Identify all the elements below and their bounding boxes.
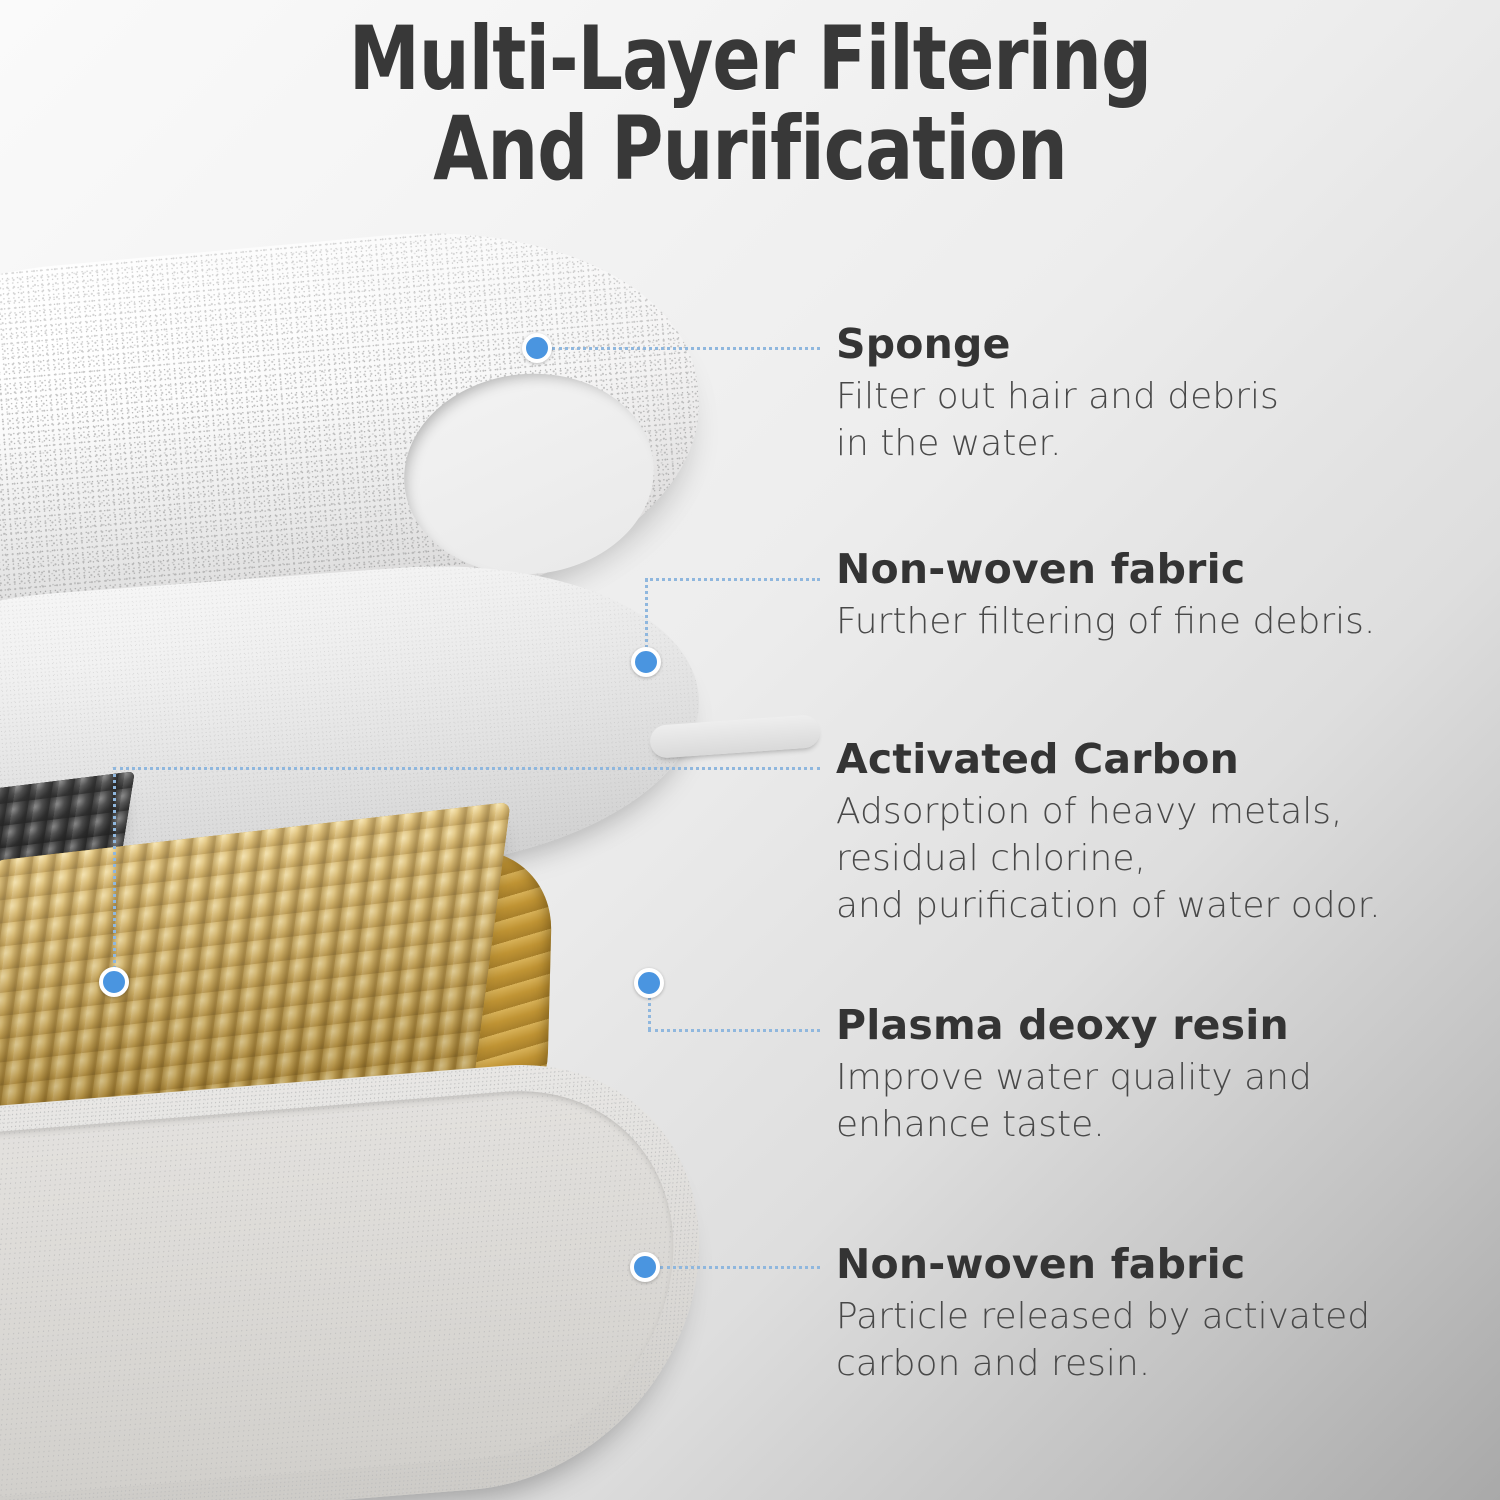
page-title: Multi-Layer Filtering And Purification bbox=[75, 14, 1425, 194]
callout-title-nonwoven-bottom: Non-woven fabric bbox=[836, 1242, 1370, 1288]
callout-desc-activated-carbon: Adsorption of heavy metals, residual chl… bbox=[836, 789, 1381, 929]
non-woven-bottom-layer bbox=[0, 1049, 715, 1500]
leader-line-nonwoven-bottom bbox=[660, 1266, 820, 1269]
callout-desc-line: Further filtering of fine debris. bbox=[836, 599, 1375, 646]
callout-desc-line: Adsorption of heavy metals, bbox=[836, 789, 1381, 836]
callout-block-plasma-deoxy-resin: Plasma deoxy resin Improve water quality… bbox=[836, 1003, 1312, 1149]
callout-block-nonwoven-bottom: Non-woven fabric Particle released by ac… bbox=[836, 1242, 1370, 1388]
callout-title-plasma-deoxy-resin: Plasma deoxy resin bbox=[836, 1003, 1312, 1049]
callout-desc-sponge: Filter out hair and debris in the water. bbox=[836, 374, 1279, 468]
callout-dot-nonwoven-top[interactable] bbox=[631, 647, 661, 677]
callout-desc-nonwoven-bottom: Particle released by activated carbon an… bbox=[836, 1294, 1370, 1388]
callout-title-activated-carbon: Activated Carbon bbox=[836, 737, 1381, 783]
leader-line-sponge bbox=[552, 347, 820, 350]
callout-title-nonwoven-top: Non-woven fabric bbox=[836, 547, 1375, 593]
infographic-canvas: Multi-Layer Filtering And Purification bbox=[0, 0, 1500, 1500]
callout-desc-line: Particle released by activated bbox=[836, 1294, 1370, 1341]
callout-desc-line: residual chlorine, bbox=[836, 836, 1381, 883]
callout-block-activated-carbon: Activated Carbon Adsorption of heavy met… bbox=[836, 737, 1381, 929]
callout-desc-plasma-deoxy-resin: Improve water quality and enhance taste. bbox=[836, 1055, 1312, 1149]
callout-dot-activated-carbon[interactable] bbox=[99, 967, 129, 997]
leader-line-nonwoven-top-horizontal bbox=[645, 578, 820, 581]
callout-dot-nonwoven-bottom[interactable] bbox=[630, 1252, 660, 1282]
callout-desc-line: in the water. bbox=[836, 421, 1279, 468]
title-line-1: Multi-Layer Filtering bbox=[349, 7, 1151, 110]
callout-desc-line: enhance taste. bbox=[836, 1102, 1312, 1149]
callout-block-sponge: Sponge Filter out hair and debris in the… bbox=[836, 322, 1279, 468]
callout-block-nonwoven-top: Non-woven fabric Further filtering of fi… bbox=[836, 547, 1375, 646]
exploded-filter-illustration bbox=[0, 250, 840, 1430]
callout-desc-line: and purification of water odor. bbox=[836, 883, 1381, 930]
callout-desc-nonwoven-top: Further filtering of fine debris. bbox=[836, 599, 1375, 646]
leader-line-resin-vertical bbox=[648, 997, 651, 1030]
callout-dot-plasma-deoxy-resin[interactable] bbox=[634, 968, 664, 998]
leader-line-carbon-vertical bbox=[113, 767, 116, 982]
leader-line-carbon-horizontal bbox=[113, 767, 820, 770]
title-line-2: And Purification bbox=[75, 104, 1425, 194]
callout-dot-sponge[interactable] bbox=[522, 333, 552, 363]
callout-title-sponge: Sponge bbox=[836, 322, 1279, 368]
callout-desc-line: Improve water quality and bbox=[836, 1055, 1312, 1102]
leader-line-resin-horizontal bbox=[648, 1029, 820, 1032]
callout-desc-line: carbon and resin. bbox=[836, 1341, 1370, 1388]
callout-desc-line: Filter out hair and debris bbox=[836, 374, 1279, 421]
